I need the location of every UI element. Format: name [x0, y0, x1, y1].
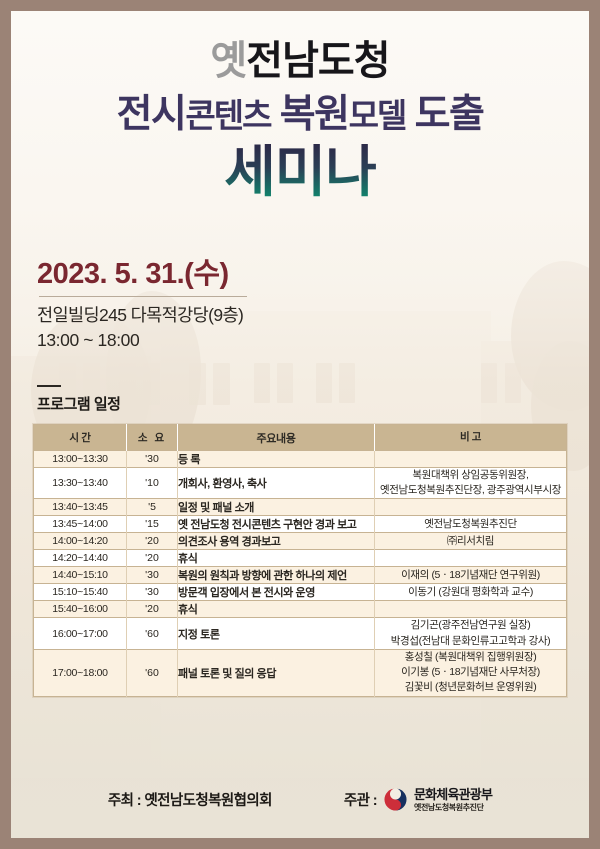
cell-duration: '60	[127, 618, 178, 649]
note-line: 옛전남도청복원추진단장, 광주광역시부시장	[375, 483, 566, 498]
cell-content: 복원의 원칙과 방향에 관한 하나의 제언	[178, 567, 375, 584]
cell-time: 13:45~14:00	[34, 516, 127, 533]
cell-time: 13:00~13:30	[34, 451, 127, 468]
note-line: 홍성칠 (복원대책위 집행위원장)	[375, 650, 566, 665]
column-header-note: 비 고	[375, 425, 567, 451]
cell-time: 13:30~13:40	[34, 468, 127, 499]
table-row: 13:40~13:45'5일정 및 패널 소개	[34, 499, 567, 516]
note-line: 김기곤(광주전남연구원 실장)	[375, 618, 566, 633]
poster-footer: 주최 : 옛전남도청복원협의회 주관 : 문화체육관광부 옛전남도청복원추진단	[11, 788, 589, 812]
footer-ministry-subtitle: 옛전남도청복원추진단	[414, 804, 492, 812]
cell-time: 14:20~14:40	[34, 550, 127, 567]
title-seminar: 세미나	[11, 144, 589, 200]
event-time: 13:00 ~ 18:00	[37, 328, 247, 353]
table-row: 16:00~17:00'60지정 토론김기곤(광주전남연구원 실장)박경섭(전남…	[34, 618, 567, 649]
title-old-prefix: 옛	[210, 39, 246, 83]
cell-content: 휴식	[178, 550, 375, 567]
cell-duration: '20	[127, 601, 178, 618]
footer-organizer: 주관 : 문화체육관광부 옛전남도청복원추진단	[344, 788, 492, 812]
title-line-2: 전시콘텐츠 복원모델 도출	[11, 95, 589, 134]
event-date: 2023. 5. 31.(수)	[37, 259, 247, 291]
cell-note	[375, 601, 567, 618]
table-row: 13:30~13:40'10개회사, 환영사, 축사복원대책위 상임공동위원장,…	[34, 468, 567, 499]
cell-note: 복원대책위 상임공동위원장,옛전남도청복원추진단장, 광주광역시부시장	[375, 468, 567, 499]
cell-duration: '60	[127, 649, 178, 696]
cell-duration: '30	[127, 584, 178, 601]
cell-duration: '10	[127, 468, 178, 499]
footer-ministry-block: 문화체육관광부 옛전남도청복원추진단	[414, 788, 492, 812]
window	[316, 363, 332, 403]
cell-time: 15:10~15:40	[34, 584, 127, 601]
table-row: 17:00~18:00'60패널 토론 및 질의 응답홍성칠 (복원대책위 집행…	[34, 649, 567, 696]
program-heading-label: 프로그램 일정	[37, 393, 120, 414]
cell-duration: '30	[127, 451, 178, 468]
window	[505, 363, 521, 403]
cell-duration: '20	[127, 533, 178, 550]
cell-time: 14:40~15:10	[34, 567, 127, 584]
window	[277, 363, 293, 403]
cell-content: 옛 전남도청 전시콘텐츠 구현안 경과 보고	[178, 516, 375, 533]
cell-content: 지정 토론	[178, 618, 375, 649]
taegeuk-icon	[384, 788, 407, 811]
cell-content: 휴식	[178, 601, 375, 618]
cell-content: 패널 토론 및 질의 응답	[178, 649, 375, 696]
title-model: 모델	[349, 97, 406, 134]
footer-organizer-label: 주관 :	[344, 789, 377, 810]
title-block: 옛전남도청 전시콘텐츠 복원모델 도출 세미나	[11, 11, 589, 200]
cell-content: 등 록	[178, 451, 375, 468]
note-line: 이동기 (강원대 평화학과 교수)	[375, 585, 566, 600]
title-line-1: 옛전남도청	[11, 41, 589, 81]
cell-note: 이동기 (강원대 평화학과 교수)	[375, 584, 567, 601]
cell-note	[375, 451, 567, 468]
table-row: 14:20~14:40'20휴식	[34, 550, 567, 567]
title-restoration: 복원	[280, 93, 349, 136]
cell-time: 14:00~14:20	[34, 533, 127, 550]
cell-content: 방문객 입장에서 본 전시와 운영	[178, 584, 375, 601]
cell-duration: '15	[127, 516, 178, 533]
title-contents: 콘텐츠	[185, 97, 270, 134]
table-header-row: 시 간 소 요 주요내용 비 고	[34, 425, 567, 451]
title-derivation: 도출	[415, 93, 484, 136]
note-line: 옛전남도청복원추진단	[375, 517, 566, 532]
table-row: 13:00~13:30'30등 록	[34, 451, 567, 468]
event-info: 2023. 5. 31.(수) 전일빌딩245 다목적강당(9층) 13:00 …	[37, 259, 247, 354]
program-heading-rule	[37, 385, 61, 387]
note-line: 김꽃비 (청년문화허브 운영위원)	[375, 680, 566, 695]
cell-duration: '20	[127, 550, 178, 567]
cell-duration: '30	[127, 567, 178, 584]
cell-content: 의견조사 용역 경과보고	[178, 533, 375, 550]
cell-note: ㈜리서치림	[375, 533, 567, 550]
title-jeonnam-provincial-office: 전남도청	[246, 39, 389, 83]
note-line: 복원대책위 상임공동위원장,	[375, 468, 566, 483]
cell-time: 16:00~17:00	[34, 618, 127, 649]
window	[339, 363, 355, 403]
table-row: 14:00~14:20'20의견조사 용역 경과보고㈜리서치림	[34, 533, 567, 550]
note-line: 이기봉 (5ㆍ18기념재단 사무처장)	[375, 665, 566, 680]
cell-time: 13:40~13:45	[34, 499, 127, 516]
note-line: 이재의 (5ㆍ18기념재단 연구위원)	[375, 568, 566, 583]
cell-note	[375, 499, 567, 516]
note-line: 박경섭(전남대 문화인류고고학과 강사)	[375, 634, 566, 649]
cell-note: 이재의 (5ㆍ18기념재단 연구위원)	[375, 567, 567, 584]
cell-content: 개회사, 환영사, 축사	[178, 468, 375, 499]
cell-time: 15:40~16:00	[34, 601, 127, 618]
poster-canvas: 옛전남도청 전시콘텐츠 복원모델 도출 세미나 2023. 5. 31.(수) …	[11, 11, 589, 838]
title-exhibition: 전시	[117, 93, 186, 136]
table-row: 14:40~15:10'30복원의 원칙과 방향에 관한 하나의 제언이재의 (…	[34, 567, 567, 584]
window	[254, 363, 270, 403]
window	[119, 363, 136, 405]
column-header-duration: 소 요	[127, 425, 178, 451]
table-row: 15:40~16:00'20휴식	[34, 601, 567, 618]
table-row: 15:10~15:40'30방문객 입장에서 본 전시와 운영이동기 (강원대 …	[34, 584, 567, 601]
program-heading: 프로그램 일정	[37, 385, 120, 414]
cell-note: 옛전남도청복원추진단	[375, 516, 567, 533]
cell-content: 일정 및 패널 소개	[178, 499, 375, 516]
window	[213, 363, 230, 405]
cell-note: 김기곤(광주전남연구원 실장)박경섭(전남대 문화인류고고학과 강사)	[375, 618, 567, 649]
window	[143, 363, 160, 405]
cell-note	[375, 550, 567, 567]
cell-note: 홍성칠 (복원대책위 집행위원장)이기봉 (5ㆍ18기념재단 사무처장)김꽃비 …	[375, 649, 567, 696]
note-line: ㈜리서치림	[375, 534, 566, 549]
table-row: 13:45~14:00'15옛 전남도청 전시콘텐츠 구현안 경과 보고옛전남도…	[34, 516, 567, 533]
event-venue: 전일빌딩245 다목적강당(9층)	[37, 303, 247, 328]
tree-right	[511, 261, 589, 411]
cell-time: 17:00~18:00	[34, 649, 127, 696]
window	[189, 363, 206, 405]
table-body: 13:00~13:30'30등 록13:30~13:40'10개회사, 환영사,…	[34, 451, 567, 697]
window	[481, 363, 497, 403]
info-divider	[39, 296, 247, 297]
footer-host: 주최 : 옛전남도청복원협의회	[108, 789, 272, 810]
column-header-content: 주요내용	[178, 425, 375, 451]
table-head: 시 간 소 요 주요내용 비 고	[34, 425, 567, 451]
column-header-time: 시 간	[34, 425, 127, 451]
program-schedule-table: 시 간 소 요 주요내용 비 고 13:00~13:30'30등 록13:30~…	[33, 424, 567, 697]
cell-duration: '5	[127, 499, 178, 516]
footer-ministry-name: 문화체육관광부	[414, 788, 492, 802]
